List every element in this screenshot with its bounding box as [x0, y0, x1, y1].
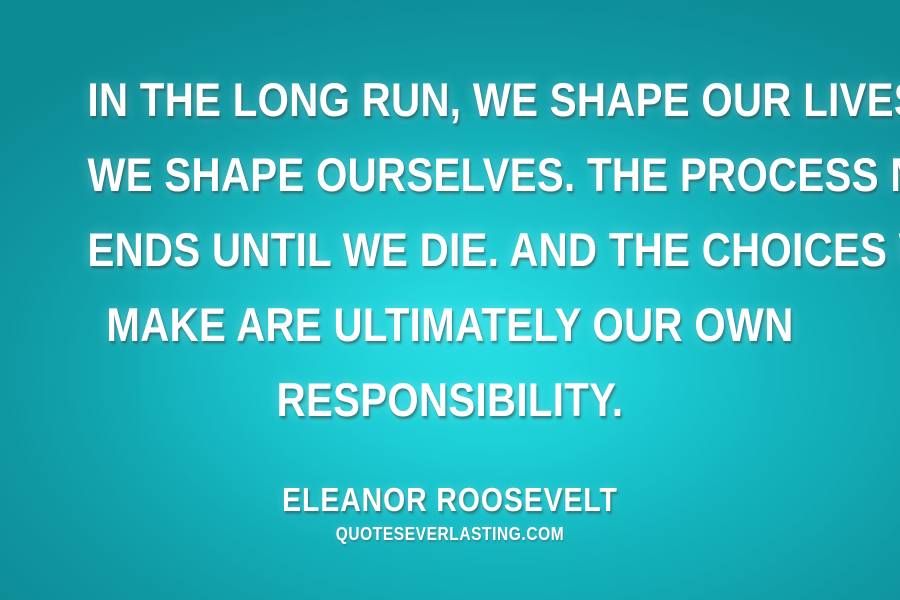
quote-text: IN THE LONG RUN, WE SHAPE OUR LIVES, AND… [65, 62, 835, 437]
quote-line: WE SHAPE OURSELVES. THE PROCESS NEVER [87, 137, 812, 212]
quote-line: MAKE ARE ULTIMATELY OUR OWN [87, 287, 812, 362]
quote-card: IN THE LONG RUN, WE SHAPE OUR LIVES, AND… [0, 0, 900, 600]
site-credit: QUOTESEVERLASTING.COM [63, 524, 837, 544]
attribution: ELEANOR ROOSEVELT QUOTESEVERLASTING.COM [0, 482, 900, 544]
quote-content: IN THE LONG RUN, WE SHAPE OUR LIVES, AND… [0, 0, 900, 600]
quote-line: IN THE LONG RUN, WE SHAPE OUR LIVES, AND [87, 62, 812, 137]
quote-line: ENDS UNTIL WE DIE. AND THE CHOICES WE [87, 212, 812, 287]
quote-author: ELEANOR ROOSEVELT [63, 482, 837, 518]
quote-line: RESPONSIBILITY. [87, 362, 812, 437]
